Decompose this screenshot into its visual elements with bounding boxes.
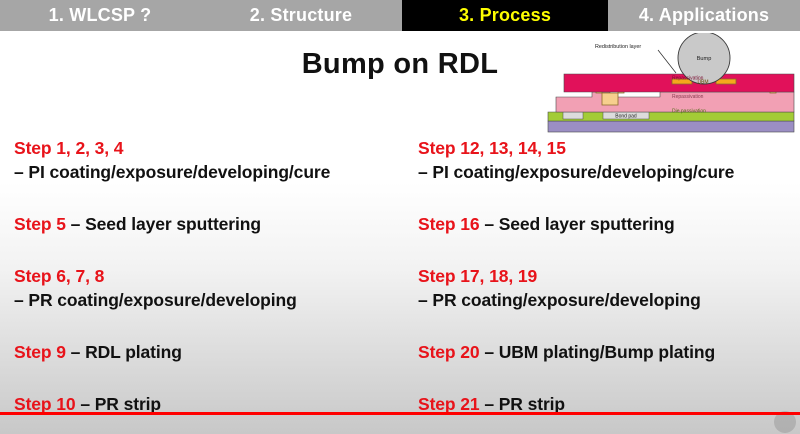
step-number: Step 20: [418, 342, 480, 362]
nav-tab-label: 3. Process: [459, 5, 551, 26]
step-description: – UBM plating/Bump plating: [480, 342, 715, 362]
step-item: Step 9 – RDL plating: [14, 340, 414, 364]
nav-tab-structure[interactable]: 2. Structure: [200, 0, 402, 31]
step-heading: Step 20 – UBM plating/Bump plating: [418, 340, 800, 364]
step-heading: Step 12, 13, 14, 15: [418, 136, 800, 160]
svg-text:Repassivation: Repassivation: [672, 94, 704, 100]
step-item: Step 20 – UBM plating/Bump plating: [418, 340, 800, 364]
step-description: – Seed layer sputtering: [66, 214, 261, 234]
step-heading: Step 1, 2, 3, 4: [14, 136, 414, 160]
step-item: Step 17, 18, 19 – PR coating/exposure/de…: [418, 264, 800, 312]
section-steps: Step 1, 2, 3, 4 – PI coating/exposure/de…: [0, 136, 800, 434]
step-heading: Step 6, 7, 8: [14, 264, 414, 288]
step-number: Step 16: [418, 214, 480, 234]
step-description: – Seed layer sputtering: [480, 214, 675, 234]
svg-text:Redistribution layer: Redistribution layer: [595, 44, 641, 50]
nav-tab-wlcsp[interactable]: 1. WLCSP ?: [0, 0, 200, 31]
step-number: Step 21: [418, 394, 480, 414]
nav-tab-process[interactable]: 3. Process: [402, 0, 608, 31]
step-heading: Step 5 – Seed layer sputtering: [14, 212, 414, 236]
section-navbar: 1. WLCSP ? 2. Structure 3. Process 4. Ap…: [0, 0, 800, 31]
step-description: – PR strip: [480, 394, 565, 414]
step-subline: – PR coating/exposure/developing: [14, 288, 414, 312]
slide-canvas: 1. WLCSP ? 2. Structure 3. Process 4. Ap…: [0, 0, 800, 434]
step-heading: Step 9 – RDL plating: [14, 340, 414, 364]
step-heading: Step 17, 18, 19: [418, 264, 800, 288]
step-subline: – PI coating/exposure/developing/cure: [418, 160, 800, 184]
cross-section-diagram: Redistribution layer Bump UBM Repassivat…: [540, 33, 800, 135]
step-subline: – PR coating/exposure/developing: [418, 288, 800, 312]
step-number: Step 9: [14, 342, 66, 362]
step-description: – RDL plating: [66, 342, 182, 362]
step-item: Step 1, 2, 3, 4 – PI coating/exposure/de…: [14, 136, 414, 184]
svg-text:Bond pad: Bond pad: [615, 114, 637, 120]
video-progress-bar[interactable]: [0, 412, 800, 415]
step-number: Step 17, 18, 19: [418, 266, 537, 286]
step-subline: – PI coating/exposure/developing/cure: [14, 160, 414, 184]
step-item: Step 16 – Seed layer sputtering: [418, 212, 800, 236]
step-number: Step 5: [14, 214, 66, 234]
step-number: Step 6, 7, 8: [14, 266, 104, 286]
steps-column-right: Step 12, 13, 14, 15 – PI coating/exposur…: [418, 136, 800, 434]
svg-text:Die passivation: Die passivation: [672, 109, 706, 115]
step-item: Step 5 – Seed layer sputtering: [14, 212, 414, 236]
step-number: Step 1, 2, 3, 4: [14, 138, 123, 158]
nav-tab-applications[interactable]: 4. Applications: [608, 0, 800, 31]
svg-text:Repassivation: Repassivation: [672, 76, 704, 82]
step-item: Step 12, 13, 14, 15 – PI coating/exposur…: [418, 136, 800, 184]
step-item: Step 6, 7, 8 – PR coating/exposure/devel…: [14, 264, 414, 312]
steps-column-left: Step 1, 2, 3, 4 – PI coating/exposure/de…: [14, 136, 414, 434]
svg-text:Bump: Bump: [697, 56, 712, 62]
step-heading: Step 16 – Seed layer sputtering: [418, 212, 800, 236]
step-number: Step 10: [14, 394, 76, 414]
step-number: Step 12, 13, 14, 15: [418, 138, 566, 158]
nav-tab-label: 1. WLCSP ?: [49, 5, 152, 26]
step-description: – PR strip: [76, 394, 161, 414]
nav-tab-label: 2. Structure: [250, 5, 352, 26]
nav-tab-label: 4. Applications: [639, 5, 769, 26]
